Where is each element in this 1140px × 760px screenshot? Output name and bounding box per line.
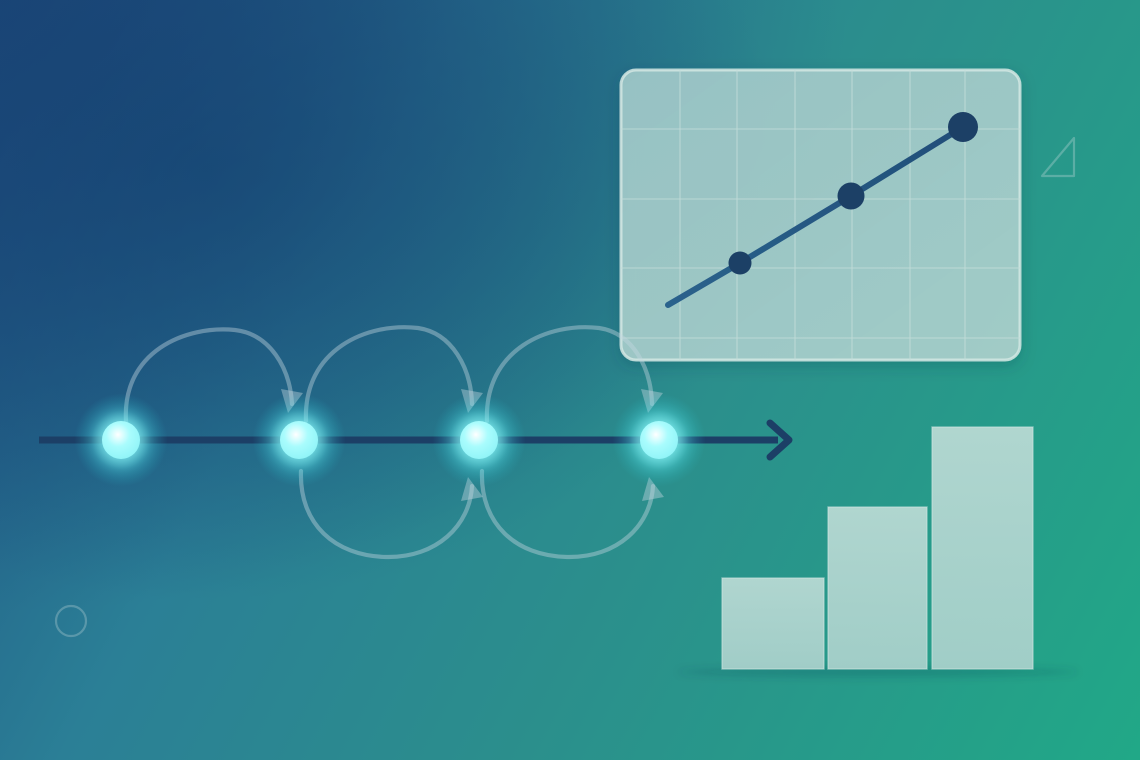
illustration-canvas <box>0 0 1140 760</box>
timeline-node-4[interactable] <box>612 393 705 486</box>
data-point-3 <box>948 112 978 142</box>
data-point-1 <box>729 252 752 275</box>
timeline-node-3[interactable] <box>432 393 525 486</box>
arc-bottom-2 <box>482 471 653 557</box>
arc-bottom-1 <box>301 471 472 557</box>
line-chart-card <box>621 70 1020 360</box>
node-1-core <box>102 421 140 459</box>
node-4-core <box>640 421 678 459</box>
bar-3 <box>932 427 1033 669</box>
circle-outline <box>56 606 86 636</box>
node-2-core <box>280 421 318 459</box>
data-point-2 <box>838 183 865 210</box>
timeline-node-1[interactable] <box>74 393 167 486</box>
timeline-arcs-above <box>126 327 663 421</box>
bar-1 <box>722 578 824 669</box>
graphics-layer <box>0 0 1140 760</box>
bar-chart <box>678 427 1078 677</box>
bar-chart-bars <box>722 427 1033 669</box>
triangle-outline <box>1042 138 1074 176</box>
bar-2 <box>828 507 927 669</box>
timeline-node-2[interactable] <box>252 393 345 486</box>
node-3-core <box>460 421 498 459</box>
